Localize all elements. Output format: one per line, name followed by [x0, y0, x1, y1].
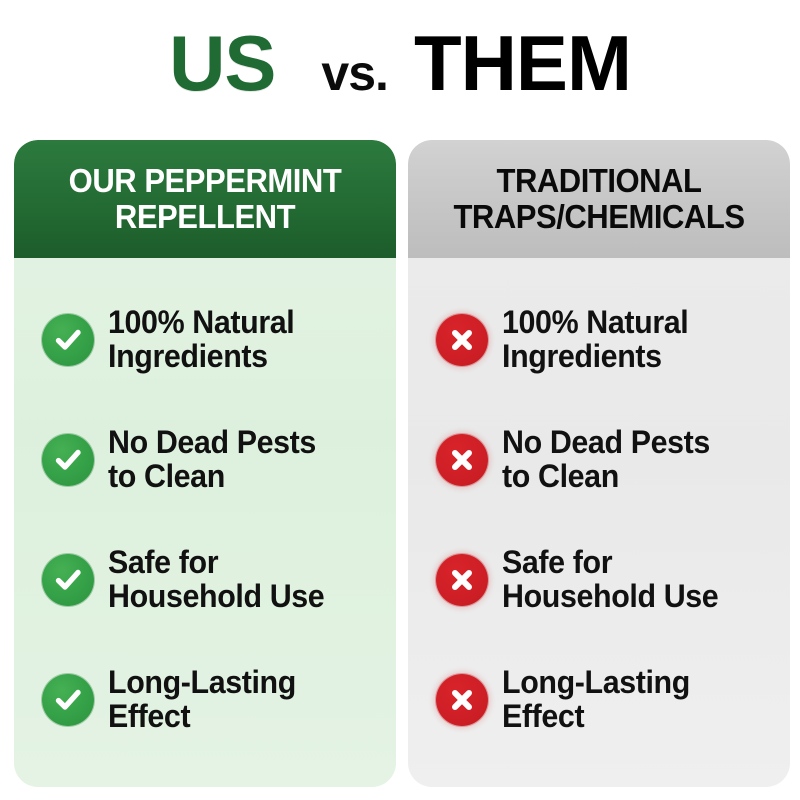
cross-circle-icon [436, 554, 488, 606]
panel-header-ours: OUR PEPPERMINT REPELLENT [14, 140, 396, 258]
check-circle-icon [42, 434, 94, 486]
headline-banner: US vs. THEM [0, 24, 800, 114]
cross-circle-icon [436, 434, 488, 486]
list-item: Long-Lasting Effect [408, 640, 790, 760]
cross-circle-icon [436, 314, 488, 366]
list-item: Safe for Household Use [408, 520, 790, 640]
list-item-label: Long-Lasting Effect [502, 666, 690, 734]
list-item-label: No Dead Pests to Clean [108, 426, 316, 494]
headline-them-word: THEM [414, 24, 631, 102]
list-item: No Dead Pests to Clean [408, 400, 790, 520]
headline-us-word: US [169, 24, 275, 102]
list-item-label: Long-Lasting Effect [108, 666, 296, 734]
list-item-label: 100% Natural Ingredients [108, 306, 294, 374]
list-item: Safe for Household Use [14, 520, 396, 640]
check-circle-icon [42, 554, 94, 606]
list-item: Long-Lasting Effect [14, 640, 396, 760]
check-circle-icon [42, 674, 94, 726]
panel-header-title-ours: OUR PEPPERMINT REPELLENT [35, 163, 375, 234]
comparison-panel-theirs: TRADITIONAL TRAPS/CHEMICALS 100% Natural… [408, 140, 790, 787]
check-circle-icon [42, 314, 94, 366]
list-item-label: Safe for Household Use [108, 546, 324, 614]
list-item: 100% Natural Ingredients [408, 280, 790, 400]
headline-vs-word: vs. [321, 48, 388, 98]
list-item-label: No Dead Pests to Clean [502, 426, 710, 494]
list-item-label: Safe for Household Use [502, 546, 718, 614]
comparison-panel-ours: OUR PEPPERMINT REPELLENT 100% Natural In… [14, 140, 396, 787]
list-item: 100% Natural Ingredients [14, 280, 396, 400]
cross-circle-icon [436, 674, 488, 726]
benefit-list-ours: 100% Natural Ingredients No Dead Pests t… [14, 258, 396, 760]
benefit-list-theirs: 100% Natural Ingredients No Dead Pests t… [408, 258, 790, 760]
list-item-label: 100% Natural Ingredients [502, 306, 688, 374]
panel-header-theirs: TRADITIONAL TRAPS/CHEMICALS [408, 140, 790, 258]
panel-header-title-theirs: TRADITIONAL TRAPS/CHEMICALS [429, 163, 769, 234]
list-item: No Dead Pests to Clean [14, 400, 396, 520]
